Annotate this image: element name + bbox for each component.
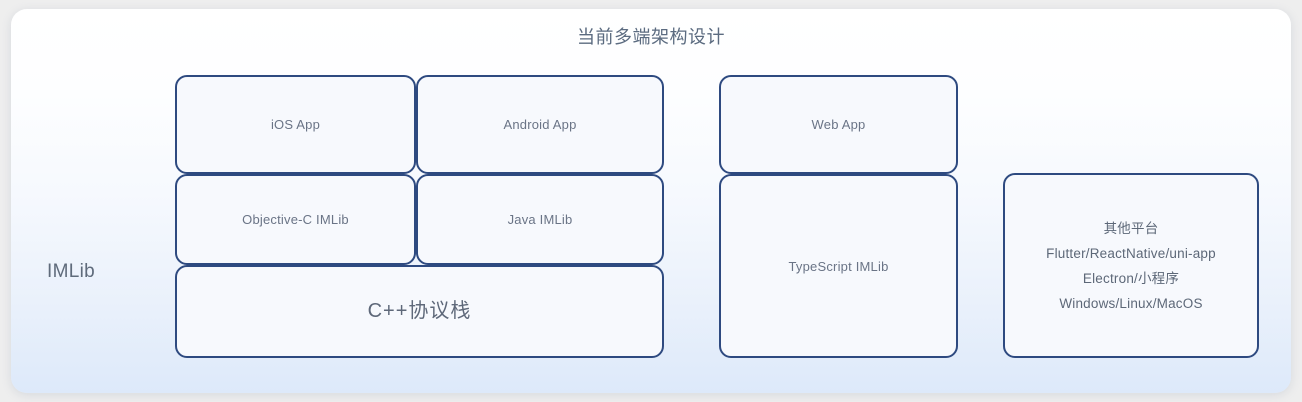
node-typescript-imlib-label: TypeScript IMLib: [788, 257, 888, 276]
node-other-platforms-line-3: Electron/小程序: [1083, 266, 1179, 291]
node-android-app-label: Android App: [503, 115, 576, 134]
node-other-platforms[interactable]: 其他平台 Flutter/ReactNative/uni-app Electro…: [1003, 173, 1259, 358]
node-ios-app[interactable]: iOS App: [175, 75, 416, 174]
node-java-imlib[interactable]: Java IMLib: [416, 174, 664, 265]
node-cpp-protocol-stack-label: C++协议栈: [368, 302, 472, 321]
node-objective-c-imlib-label: Objective-C IMLib: [242, 210, 349, 229]
node-objective-c-imlib[interactable]: Objective-C IMLib: [175, 174, 416, 265]
node-other-platforms-line-4: Windows/Linux/MacOS: [1059, 291, 1202, 316]
node-android-app[interactable]: Android App: [416, 75, 664, 174]
node-typescript-imlib[interactable]: TypeScript IMLib: [719, 174, 958, 358]
node-web-app[interactable]: Web App: [719, 75, 958, 174]
architecture-diagram: 当前多端架构设计 IMLib iOS App Android App Objec…: [0, 0, 1302, 402]
node-ios-app-label: iOS App: [271, 115, 320, 134]
diagram-title: 当前多端架构设计: [11, 25, 1291, 49]
node-other-platforms-line-1: 其他平台: [1104, 216, 1159, 241]
node-web-app-label: Web App: [812, 115, 866, 134]
diagram-card: 当前多端架构设计 IMLib iOS App Android App Objec…: [11, 9, 1291, 393]
node-java-imlib-label: Java IMLib: [508, 210, 573, 229]
imlib-side-label: IMLib: [47, 260, 95, 284]
node-other-platforms-line-2: Flutter/ReactNative/uni-app: [1046, 241, 1216, 266]
node-cpp-protocol-stack[interactable]: C++协议栈: [175, 265, 664, 358]
